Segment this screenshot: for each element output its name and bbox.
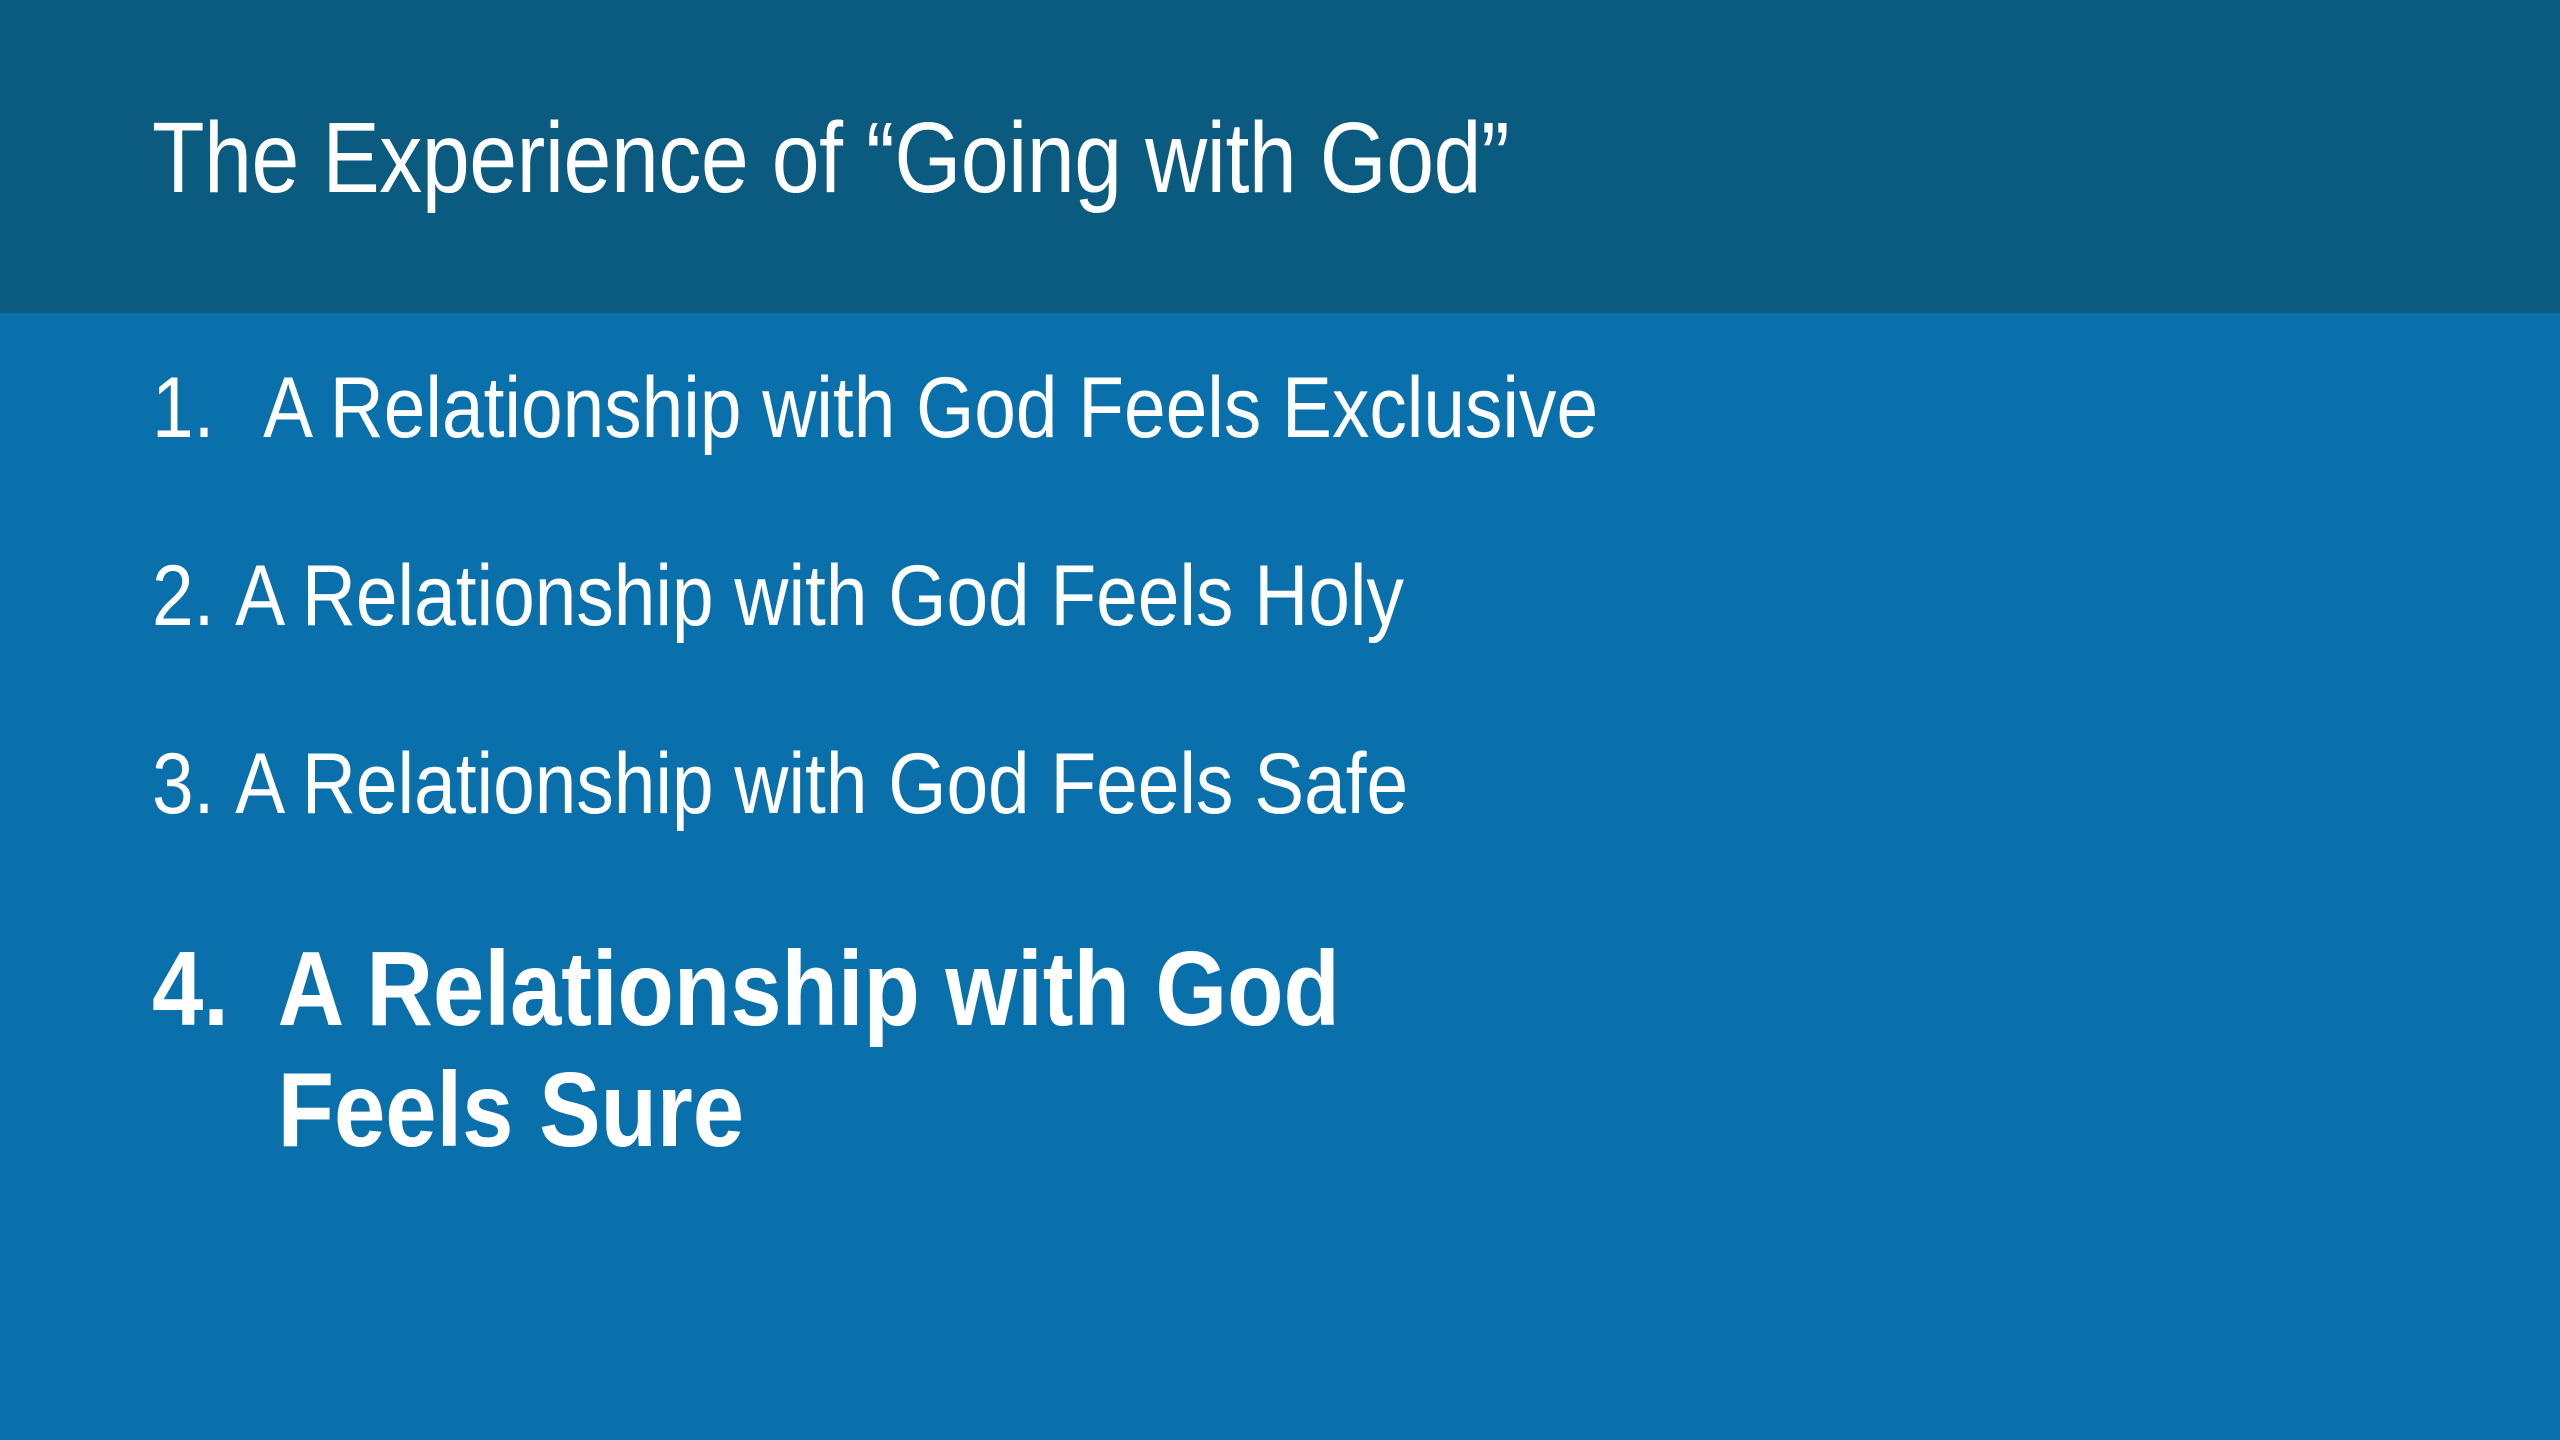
slide-title-band: The Experience of “Going with God”	[0, 0, 2560, 313]
list-item-marker: 2.	[152, 553, 214, 639]
list-item-label: A Relationship with God Feels Safe	[235, 741, 1408, 827]
list-item-marker: 1.	[152, 365, 214, 451]
slide-body: 1. A Relationship with God Feels Exclusi…	[0, 313, 2560, 1440]
list-item-label: A Relationship with God Feels Holy	[235, 553, 1404, 639]
list-item: 2. A Relationship with God Feels Holy	[152, 553, 2153, 639]
presentation-slide: The Experience of “Going with God” 1. A …	[0, 0, 2560, 1440]
list-item: 3. A Relationship with God Feels Safe	[152, 741, 2153, 827]
list-item-marker: 3.	[152, 741, 214, 827]
slide-title: The Experience of “Going with God”	[152, 108, 2130, 208]
list-item-marker: 4.	[152, 929, 229, 1050]
list-item-label: A Relationship with God Feels Sure	[278, 929, 1366, 1171]
list-item: 1. A Relationship with God Feels Exclusi…	[152, 365, 2153, 451]
list-item: 4. A Relationship with God Feels Sure	[152, 929, 2153, 1171]
numbered-list: 1. A Relationship with God Feels Exclusi…	[152, 365, 2452, 1171]
list-item-label: A Relationship with God Feels Exclusive	[263, 365, 1598, 451]
